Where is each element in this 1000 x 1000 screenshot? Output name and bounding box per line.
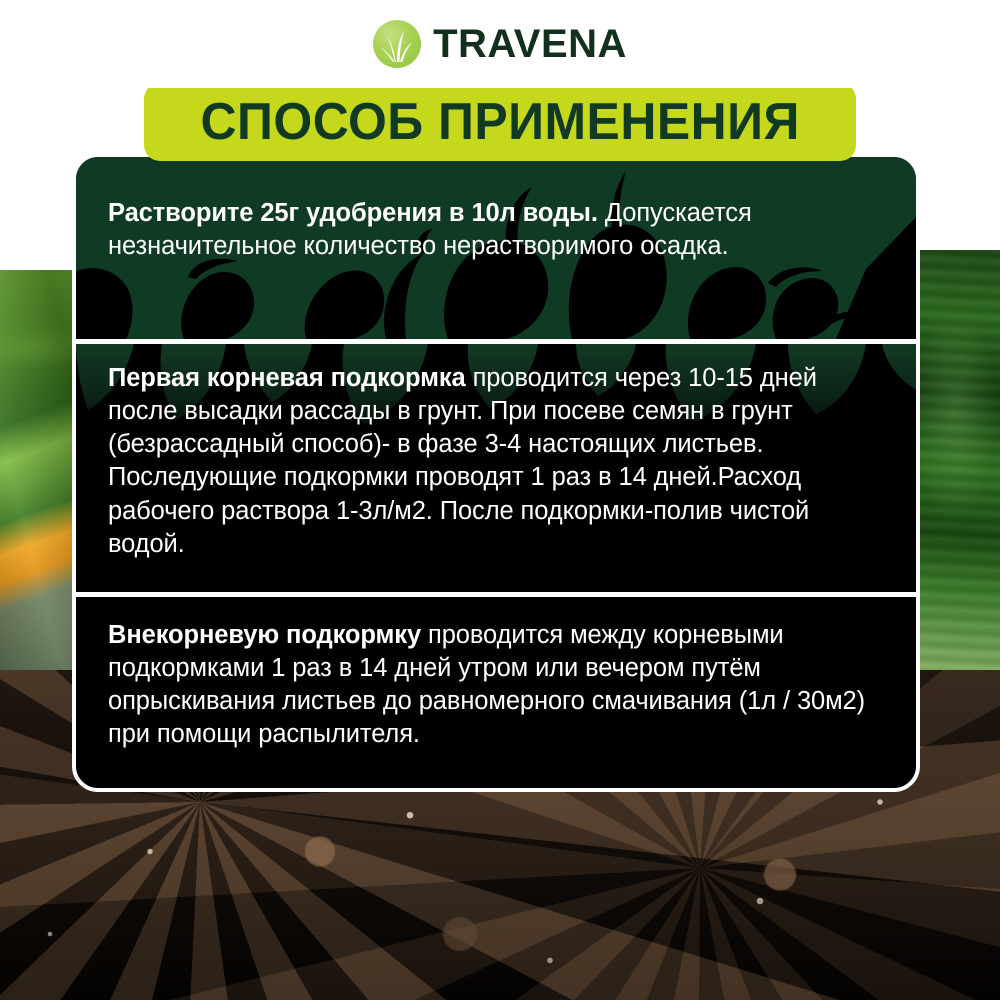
instruction-lead: Первая корневая подкормка — [108, 364, 466, 392]
instruction-lead: Растворите 25г удобрения в 10л воды. — [108, 199, 598, 227]
instruction-block-dissolve: Растворите 25г удобрения в 10л воды. Доп… — [76, 157, 916, 339]
leaf-circle-icon — [373, 20, 421, 68]
instruction-block-foliar-feeding: Внекорневую подкормку проводится между к… — [76, 597, 916, 792]
instruction-lead: Внекорневую подкормку — [108, 621, 421, 649]
block-text-container: Растворите 25г удобрения в 10л воды. Доп… — [76, 157, 916, 273]
title-banner: СПОСОБ ПРИМЕНЕНИЯ — [144, 83, 856, 161]
brand-name: TRAVENA — [433, 24, 627, 64]
block-text-container: Первая корневая подкормка проводится чер… — [76, 344, 916, 571]
instruction-paragraph: Растворите 25г удобрения в 10л воды. Доп… — [108, 197, 886, 263]
header: TRAVENA — [0, 0, 1000, 88]
page-title: СПОСОБ ПРИМЕНЕНИЯ — [200, 92, 799, 152]
instructions-card: Растворите 25г удобрения в 10л воды. Доп… — [72, 153, 920, 792]
instruction-paragraph: Внекорневую подкормку проводится между к… — [108, 619, 886, 752]
instruction-block-root-feeding: Первая корневая подкормка проводится чер… — [76, 344, 916, 592]
instruction-body: проводится через 10-15 дней после высадк… — [108, 364, 817, 558]
instruction-paragraph: Первая корневая подкормка проводится чер… — [108, 362, 886, 561]
block-text-container: Внекорневую подкормку проводится между к… — [76, 597, 916, 762]
brand-logo: TRAVENA — [373, 20, 627, 68]
poster-canvas: TRAVENA СПОСОБ ПРИМЕНЕНИЯ — [0, 0, 1000, 1000]
